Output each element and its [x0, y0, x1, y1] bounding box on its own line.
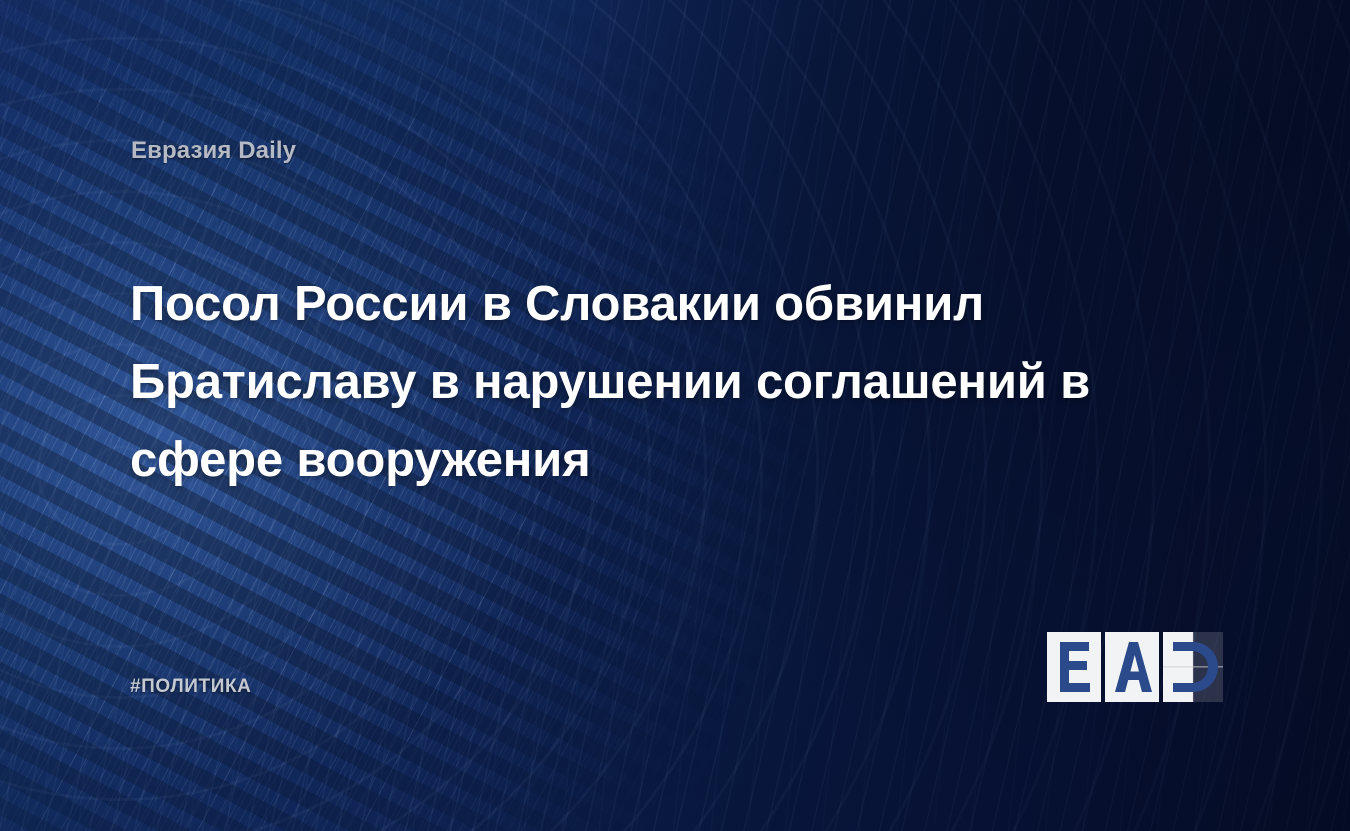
eadaily-logo-icon: [1047, 632, 1223, 702]
news-share-card: Евразия Daily Посол России в Словакии об…: [0, 0, 1350, 831]
eadaily-logo[interactable]: [1047, 632, 1223, 702]
category-hashtag[interactable]: #ПОЛИТИКА: [130, 676, 252, 698]
brand-name: Евразия Daily: [131, 137, 296, 165]
headline-title: Посол России в Словакии обвинил Братисла…: [130, 265, 1190, 499]
card-content: Евразия Daily Посол России в Словакии об…: [0, 0, 1350, 831]
